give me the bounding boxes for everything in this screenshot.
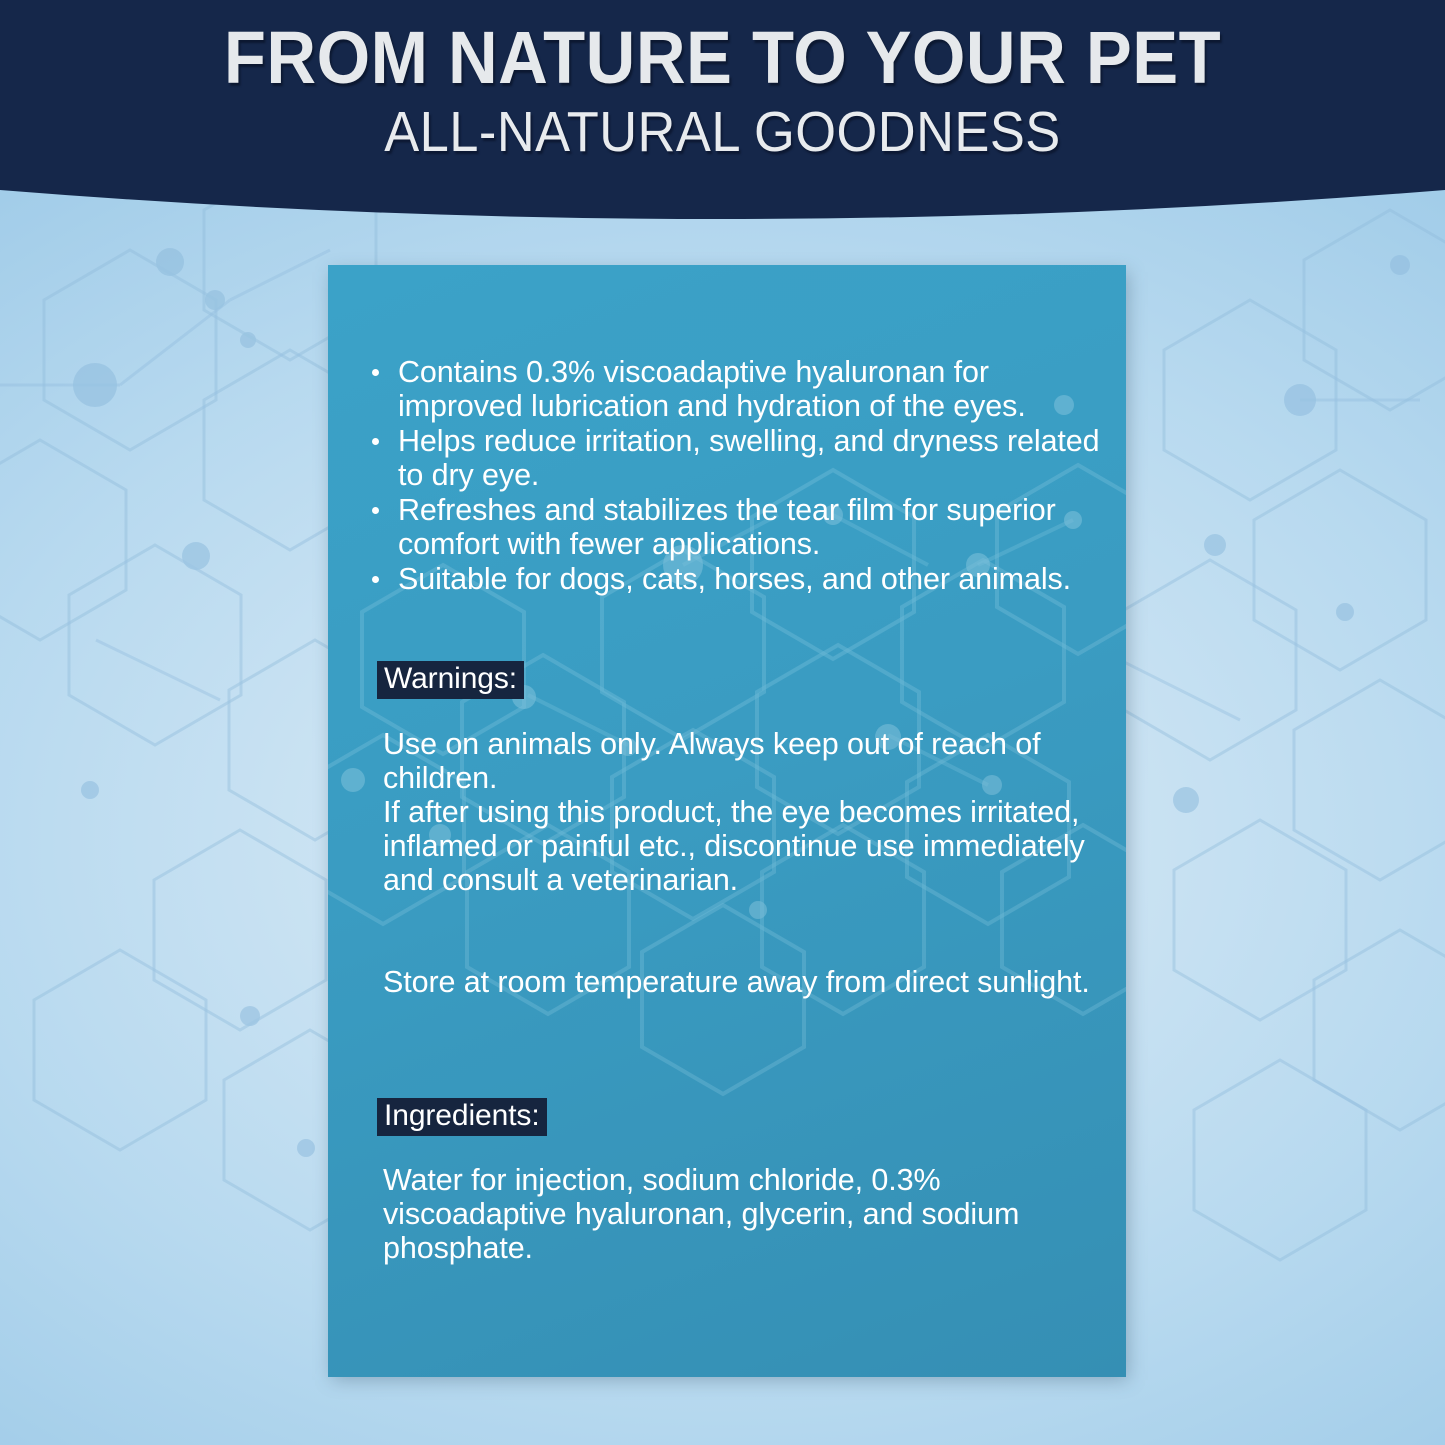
product-info-card: Contains 0.3% viscoadaptive hyaluronan f… [328,265,1126,1377]
warnings-body-text: Use on animals only. Always keep out of … [383,727,1093,897]
feature-bullet-list: Contains 0.3% viscoadaptive hyaluronan f… [364,355,1104,597]
warnings-section-label: Warnings: [377,661,524,699]
list-item: Helps reduce irritation, swelling, and d… [364,424,1104,492]
storage-instructions-text: Store at room temperature away from dire… [383,965,1093,999]
header-band: FROM NATURE TO YOUR PET ALL-NATURAL GOOD… [0,0,1445,245]
ingredients-section-label: Ingredients: [377,1098,547,1136]
ingredients-body-text: Water for injection, sodium chloride, 0.… [383,1163,1093,1265]
list-item: Refreshes and stabilizes the tear film f… [364,493,1104,561]
list-item: Suitable for dogs, cats, horses, and oth… [364,562,1104,596]
list-item: Contains 0.3% viscoadaptive hyaluronan f… [364,355,1104,423]
product-infographic: FROM NATURE TO YOUR PET ALL-NATURAL GOOD… [0,0,1445,1445]
